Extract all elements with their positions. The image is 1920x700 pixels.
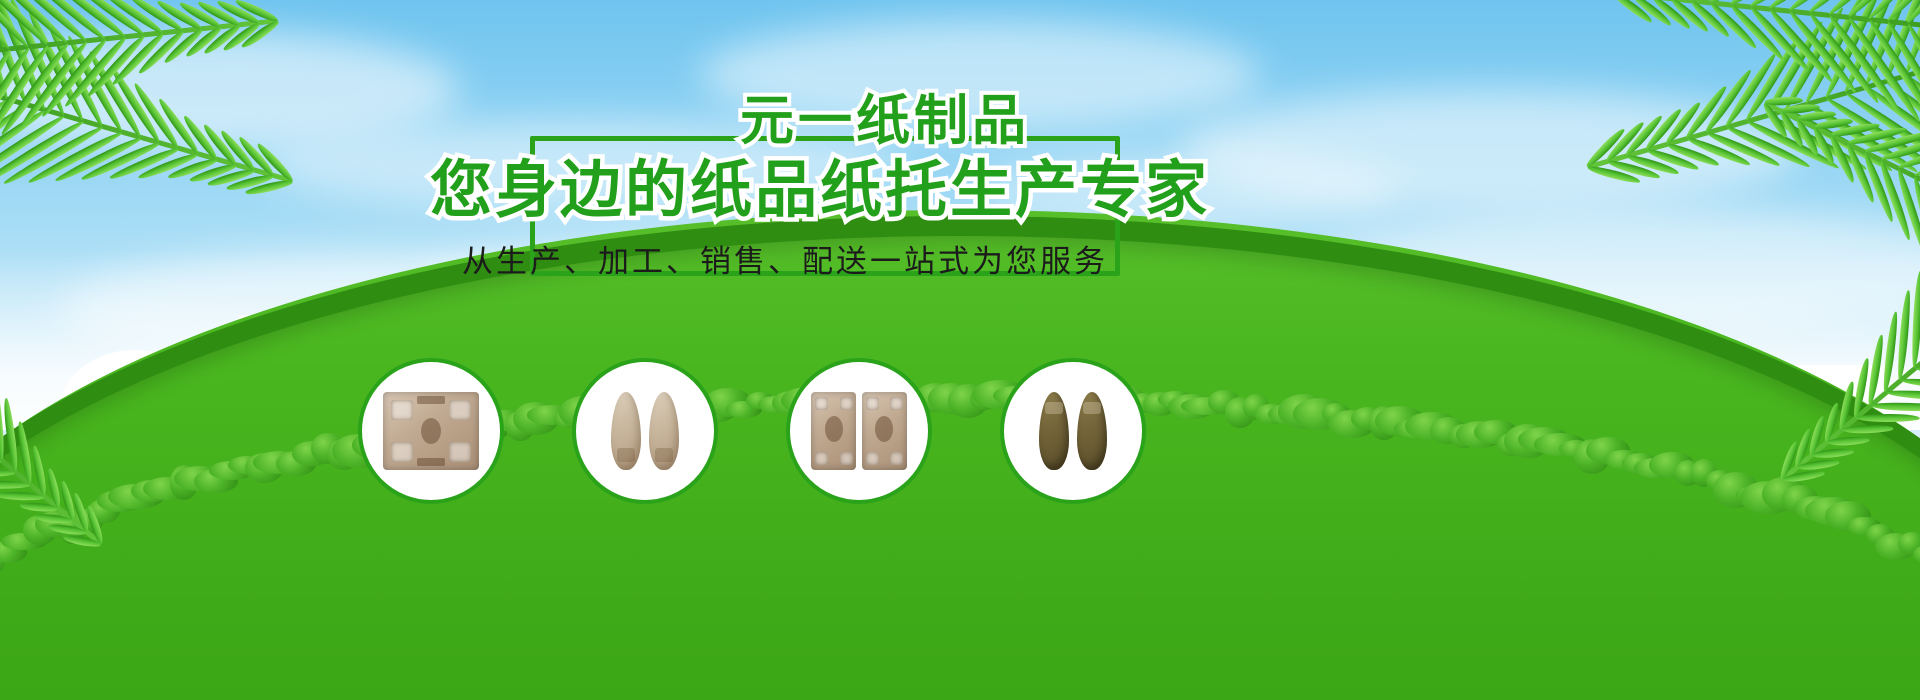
promo-banner: 元一纸制品 您身边的纸品纸托生产专家 从生产、加工、销售、配送一站式为您服务 [0, 0, 1920, 700]
paper-pulp-insole-pair-dark-image [1025, 392, 1121, 470]
product-circle-paper-pulp-insole-light[interactable] [572, 358, 718, 504]
product-circle-paper-pulp-tray-square[interactable] [358, 358, 504, 504]
product-circle-paper-pulp-tray-double[interactable] [786, 358, 932, 504]
paper-pulp-tray-double-image [811, 392, 907, 470]
paper-pulp-tray-square-image [383, 392, 479, 470]
product-circle-row [0, 0, 1920, 700]
product-circle-paper-pulp-insole-dark[interactable] [1000, 358, 1146, 504]
paper-pulp-insole-pair-light-image [597, 392, 693, 470]
